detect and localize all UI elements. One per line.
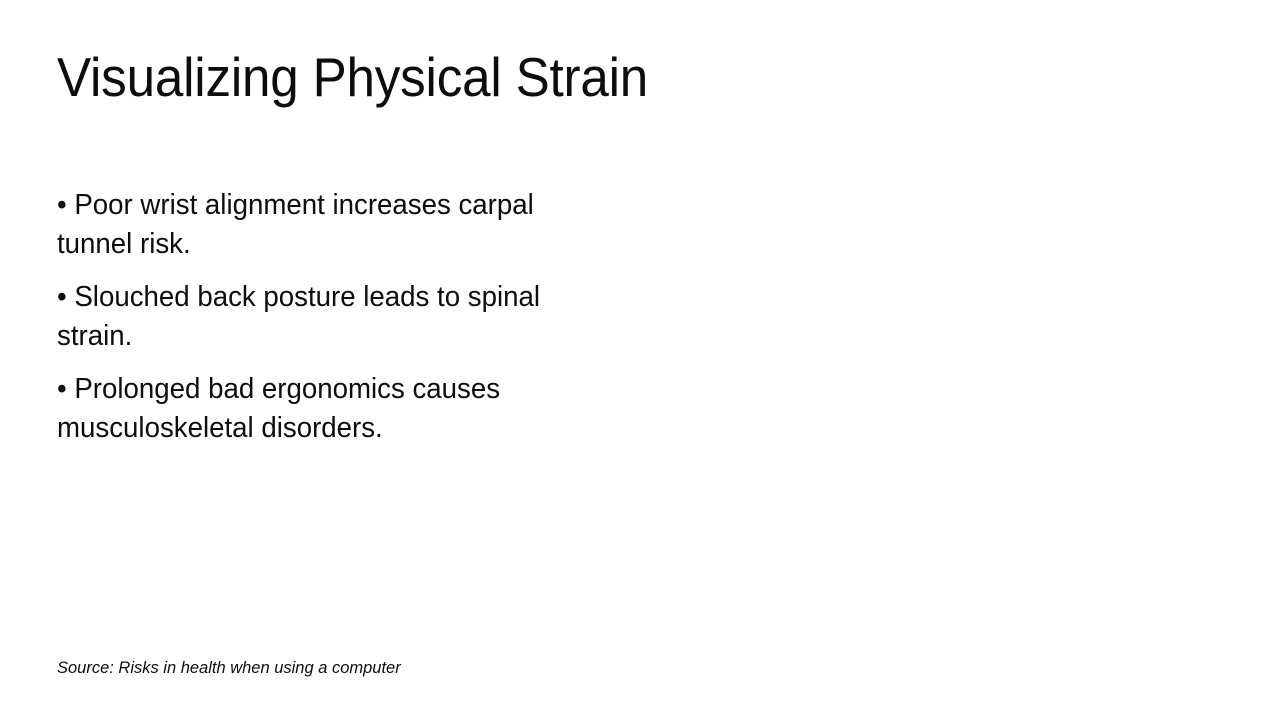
slide-canvas: Visualizing Physical Strain • Poor wrist… <box>0 0 1280 720</box>
page-title: Visualizing Physical Strain <box>57 47 1136 109</box>
source-caption: Source: Risks in health when using a com… <box>57 657 401 678</box>
list-item: • Prolonged bad ergonomics causes muscul… <box>57 370 600 448</box>
bullet-list: • Poor wrist alignment increases carpal … <box>57 186 657 448</box>
list-item: • Poor wrist alignment increases carpal … <box>57 186 600 264</box>
list-item: • Slouched back posture leads to spinal … <box>57 278 600 356</box>
